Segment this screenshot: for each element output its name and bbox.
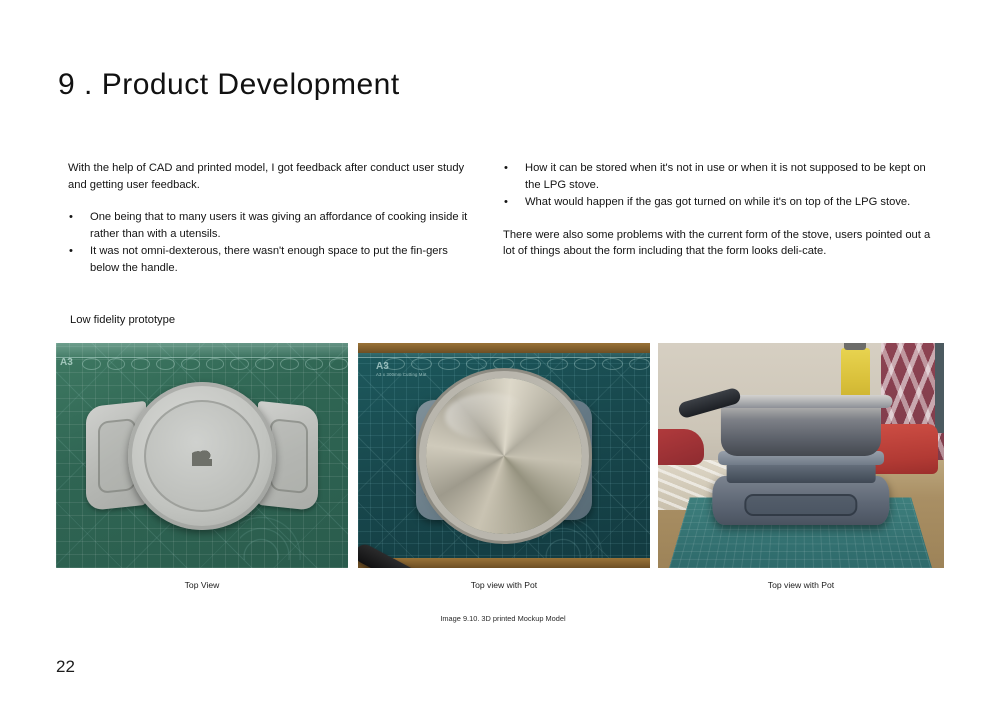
right-text-column: • How it can be stored when it's not in … (503, 160, 943, 276)
figure-strip: A3 A3 (56, 343, 944, 568)
list-item-text: How it can be stored when it's not in us… (525, 160, 943, 193)
section-label-low-fidelity-prototype: Low fidelity prototype (70, 312, 175, 328)
cutting-mat-label: A3 A3 x 300mm Cutting Mat (376, 361, 426, 377)
list-item: • How it can be stored when it's not in … (503, 160, 943, 193)
photo-caption-2: Top view with Pot (358, 580, 650, 591)
bullet-icon: • (504, 194, 508, 211)
cutting-mat-sublabel: A3 x 300mm Cutting Mat (376, 372, 426, 377)
bullet-icon: • (69, 243, 73, 260)
wooden-table-edge-top (358, 343, 650, 353)
list-item-text: It was not omni-dexterous, there wasn't … (90, 243, 478, 276)
figure-caption-row: Image 9.10. 3D printed Mockup Model (0, 614, 1000, 624)
window-frame (935, 343, 944, 433)
photo-top-view-with-pot: A3 A3 x 300mm Cutting Mat (358, 343, 650, 568)
photo-caption-1: Top View (56, 580, 348, 591)
list-item-text: One being that to many users it was givi… (90, 209, 478, 242)
steel-pot-top-view (426, 378, 582, 534)
stove-neck (727, 462, 876, 482)
prototype-stove-top (86, 380, 318, 532)
cutting-mat-top-ruler (56, 343, 348, 358)
prototype-outer-ring (128, 382, 276, 530)
photo-top-view-prototype: A3 (56, 343, 348, 568)
bullet-icon: • (69, 209, 73, 226)
list-item: • What would happen if the gas got turne… (503, 194, 943, 211)
list-item-text: What would happen if the gas got turned … (525, 194, 943, 211)
red-cloth-left (658, 429, 704, 465)
cutting-mat-oval-marks (56, 358, 348, 370)
prototype-inner-ring (144, 400, 260, 512)
cutting-mat-label: A3 (60, 357, 73, 368)
flame-emblem-icon (192, 450, 212, 466)
list-item: • One being that to many users it was gi… (68, 209, 478, 242)
photo-side-view-with-pot (658, 343, 944, 568)
list-item: • It was not omni-dexterous, there wasn'… (68, 243, 478, 276)
stove-base (712, 476, 889, 526)
photo-caption-3: Top view with Pot (658, 580, 944, 591)
right-bullet-list: • How it can be stored when it's not in … (503, 160, 943, 211)
steel-pot-side-view (721, 404, 881, 456)
page-title: 9 . Product Development (58, 68, 400, 102)
closing-paragraph: There were also some problems with the c… (503, 227, 943, 260)
cutting-mat-size-text: A3 (376, 361, 389, 372)
figure-caption-text: Image 9.10. 3D printed Mockup Model (434, 614, 565, 623)
left-text-column: With the help of CAD and printed model, … (68, 160, 478, 277)
page-number: 22 (56, 657, 75, 677)
cutting-mat-size-text: A3 (60, 357, 73, 368)
bullet-icon: • (504, 160, 508, 177)
intro-paragraph: With the help of CAD and printed model, … (68, 160, 478, 193)
left-bullet-list: • One being that to many users it was gi… (68, 209, 478, 276)
